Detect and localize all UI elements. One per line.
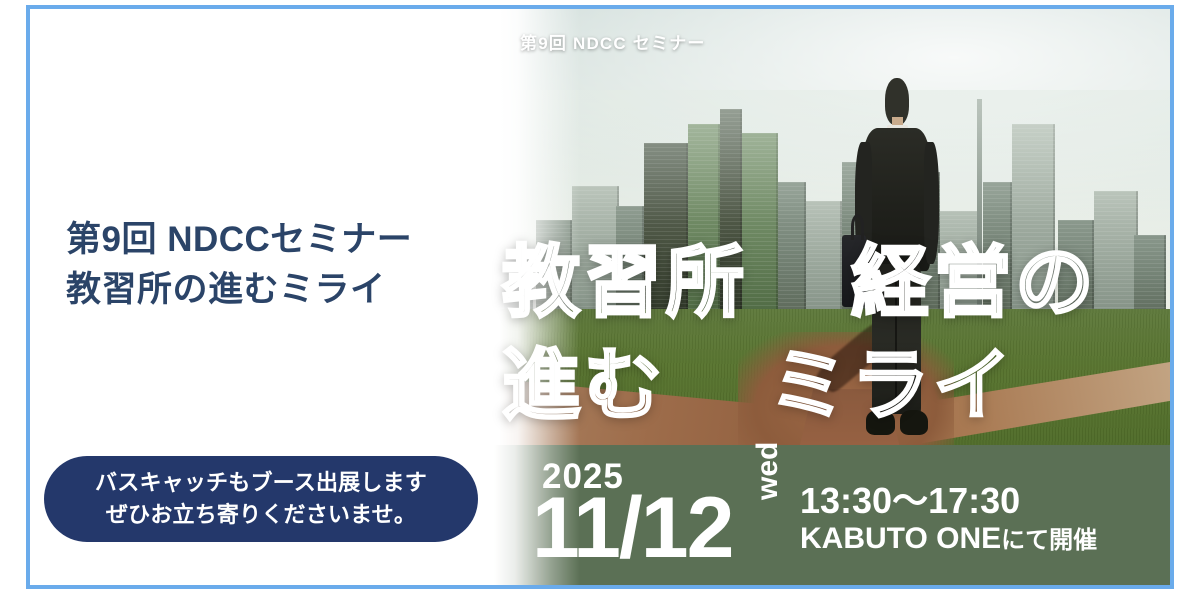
- event-time: 13:30〜17:30: [800, 480, 1097, 521]
- poster-eyebrow-label: 第9回 NDCC セミナー: [520, 29, 706, 54]
- event-date-bar: 2025 11/12 wed 13:30〜17:30 KABUTO ONEにて開…: [450, 445, 1170, 585]
- banner-title-line1: 第9回 NDCCセミナー: [66, 215, 466, 265]
- booth-notice-badge: バスキャッチもブース出展します ぜひお立ち寄りくださいませ。: [44, 456, 478, 542]
- event-day: 11/12: [532, 489, 732, 568]
- booth-notice-line2: ぜひお立ち寄りくださいませ。: [106, 499, 416, 531]
- event-weekday: wed: [753, 442, 783, 500]
- headline-line2-left: 進む: [502, 341, 666, 429]
- seminar-banner: 第9回 NDCC セミナー 教習所 経営の 進む ミライ 2025 11/12 …: [26, 5, 1174, 589]
- venue-name: KABUTO ONE: [800, 522, 1001, 555]
- headline-line2-right: ミライ: [769, 341, 1015, 429]
- poster-headline: 教習所 経営の 進む ミライ: [502, 231, 1160, 437]
- booth-notice-line1: バスキャッチもブース出展します: [95, 467, 427, 499]
- left-text-panel: 第9回 NDCCセミナー 教習所の進むミライ バスキャッチもブース出展します ぜ…: [30, 9, 482, 585]
- headline-line1-right: 経営の: [851, 238, 1097, 326]
- poster-artwork: 第9回 NDCC セミナー 教習所 経営の 進む ミライ 2025 11/12 …: [450, 9, 1170, 585]
- banner-title-line2: 教習所の進むミライ: [66, 265, 466, 315]
- event-venue: KABUTO ONEにて開催: [800, 521, 1097, 557]
- headline-line1-left: 教習所: [502, 238, 748, 326]
- banner-title: 第9回 NDCCセミナー 教習所の進むミライ: [66, 215, 466, 314]
- event-date-content: 2025 11/12 wed 13:30〜17:30 KABUTO ONEにて開…: [450, 445, 1170, 585]
- event-details: 13:30〜17:30 KABUTO ONEにて開催: [800, 480, 1097, 557]
- venue-suffix: にて開催: [1001, 527, 1097, 554]
